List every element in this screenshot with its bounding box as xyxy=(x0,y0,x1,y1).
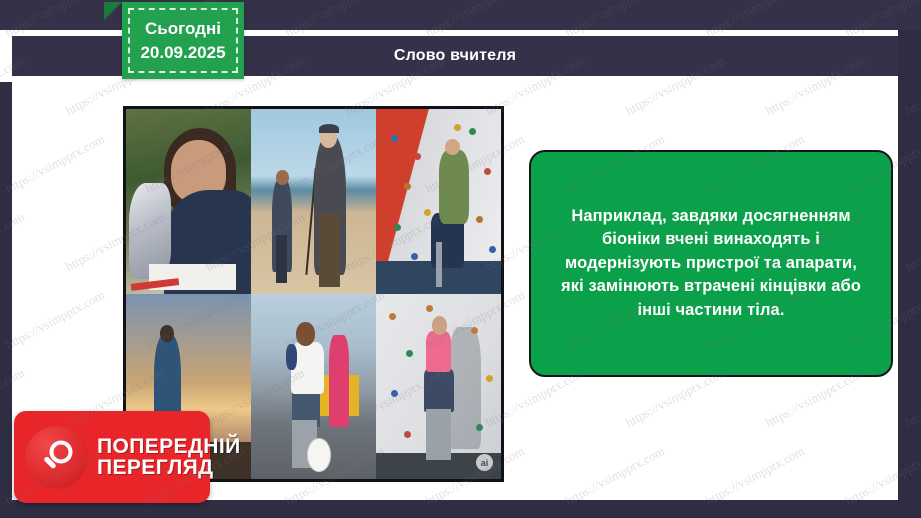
ai-watermark-badge: ai xyxy=(476,454,493,471)
photo-woman-climbing-wall: ai xyxy=(376,294,501,479)
magnifier-icon xyxy=(37,437,77,477)
watermark-text: https://vsimpptx.com xyxy=(903,365,921,431)
preview-badge-line-1: ПОПЕРЕДНІЙ xyxy=(97,436,241,457)
photo-beach-elderly-and-boy xyxy=(251,109,376,294)
preview-badge[interactable]: ПОПЕРЕДНІЙ ПЕРЕГЛЯД xyxy=(14,411,210,503)
page-title: Слово вчителя xyxy=(394,47,516,65)
today-badge-fold xyxy=(104,2,122,20)
photo-climbing-wall-man xyxy=(376,109,501,294)
presentation-slide: 37 BCIM pptx Слово вчителя Сьогодні xyxy=(0,0,921,518)
today-date: 20.09.2025 xyxy=(140,43,225,63)
today-date-badge: Сьогодні 20.09.2025 xyxy=(122,2,244,79)
teacher-note-text: Наприклад, завдяки досягненням біоніки в… xyxy=(553,205,869,322)
watermark-text: https://vsimpptx.com xyxy=(903,53,921,119)
teacher-note-box: Наприклад, завдяки досягненням біоніки в… xyxy=(529,150,893,377)
photo-boy-playing-football xyxy=(251,294,376,479)
preview-badge-line-2: ПЕРЕГЛЯД xyxy=(97,457,241,478)
magnifier-icon-circle xyxy=(25,426,88,489)
watermark-text: https://vsimpptx.com xyxy=(903,209,921,275)
photo-bionic-arm-writing xyxy=(126,109,251,294)
today-label: Сьогодні xyxy=(145,19,221,39)
